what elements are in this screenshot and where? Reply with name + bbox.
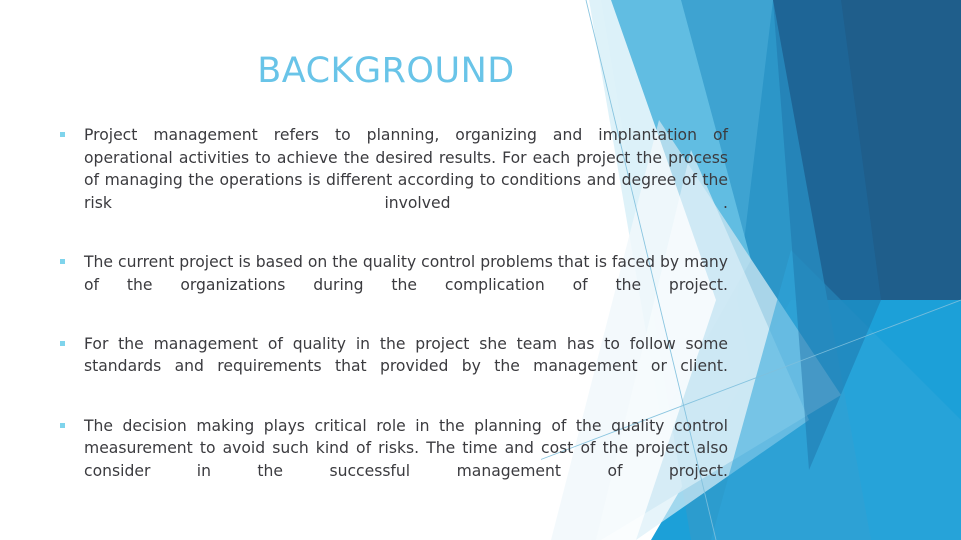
slide-canvas: BACKGROUND Project management refers to …: [0, 0, 961, 540]
list-item: The current project is based on the qual…: [56, 251, 728, 319]
deco-shape-deep-blue-shard: [773, 0, 881, 470]
list-item: For the management of quality in the pro…: [56, 333, 728, 401]
page-title: BACKGROUND: [0, 50, 772, 92]
list-item-text: The current project is based on the qual…: [84, 251, 728, 319]
square-bullet-icon: [60, 341, 65, 346]
square-bullet-icon: [60, 259, 65, 264]
list-item: The decision making plays critical role …: [56, 415, 728, 505]
square-bullet-icon: [60, 423, 65, 428]
list-item-text: Project management refers to planning, o…: [84, 124, 728, 237]
bullet-list: Project management refers to planning, o…: [56, 124, 728, 505]
deco-shape-translucent-overlay: [711, 250, 961, 540]
list-item: Project management refers to planning, o…: [56, 124, 728, 237]
square-bullet-icon: [60, 132, 65, 137]
list-item-text: For the management of quality in the pro…: [84, 333, 728, 401]
list-item-text: The decision making plays critical role …: [84, 415, 728, 505]
